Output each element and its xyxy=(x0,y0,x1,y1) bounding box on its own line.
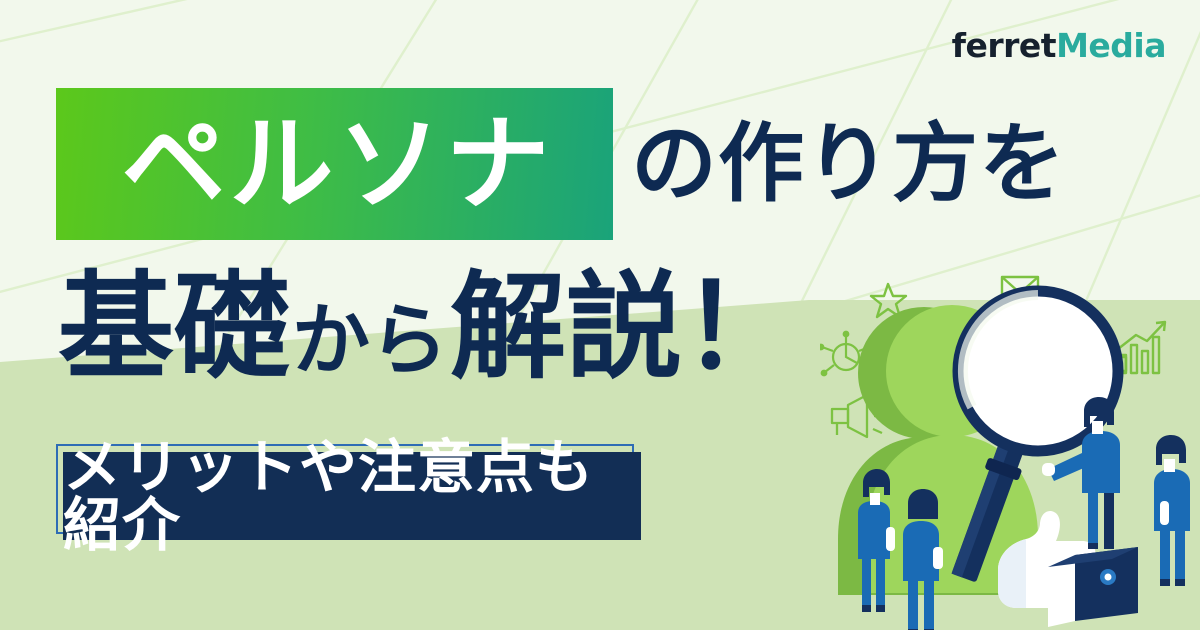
bar-chart-icon xyxy=(1118,322,1165,373)
headline-line-2: 基礎 から 解説！ xyxy=(58,270,798,386)
banner-canvas: ferretMedia ペルソナ の作り方を 基礎 から 解説！ メリットや注意… xyxy=(0,0,1200,630)
headline-highlight-text: ペルソナ xyxy=(115,112,553,216)
headline-line-2-part-3: 解説！ xyxy=(450,270,798,386)
subtitle-banner: メリットや注意点も紹介 xyxy=(56,444,640,540)
headline-line-2-part-2: から xyxy=(292,302,448,380)
person-2 xyxy=(903,489,943,630)
subtitle-text: メリットや注意点も紹介 xyxy=(63,438,641,554)
headline-line-2-part-1: 基礎 xyxy=(58,270,290,386)
person-4 xyxy=(1154,435,1190,586)
logo-text-primary: ferret xyxy=(952,26,1056,65)
logo-text-secondary: Media xyxy=(1056,26,1166,65)
subtitle-fill: メリットや注意点も紹介 xyxy=(63,452,641,540)
headline-line-1: ペルソナ の作り方を xyxy=(56,88,1066,240)
headline-line-1-tail: の作り方を xyxy=(631,121,1066,207)
brand-logo: ferretMedia xyxy=(952,29,1166,62)
persona-research-illustration xyxy=(820,255,1200,630)
headline-highlight-box: ペルソナ xyxy=(56,88,613,240)
